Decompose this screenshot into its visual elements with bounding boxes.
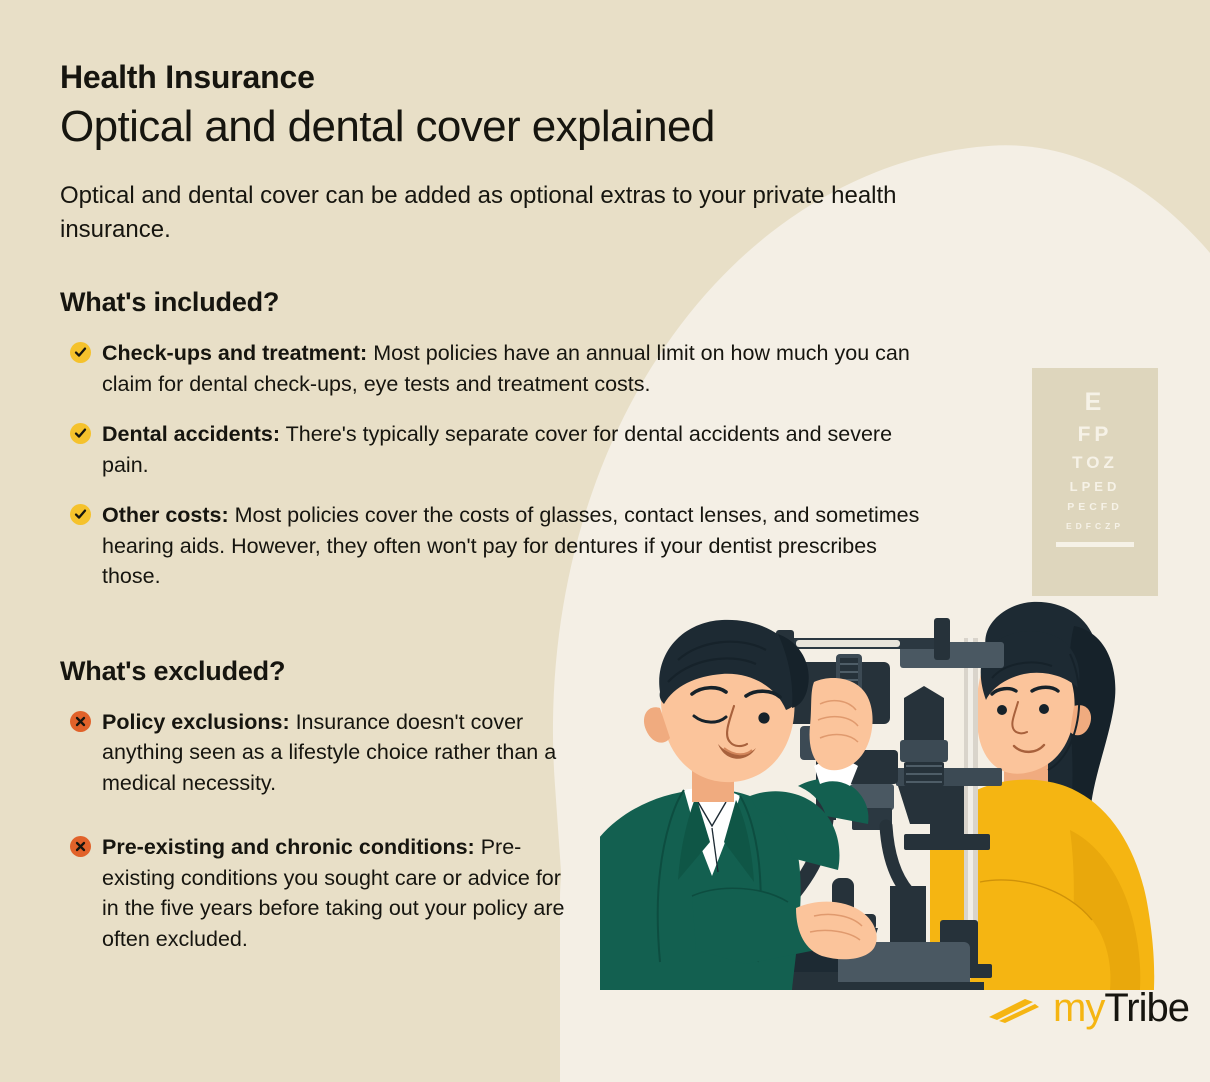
page-title: Optical and dental cover explained — [60, 102, 940, 153]
excluded-list: Policy exclusions: Insurance doesn't cov… — [60, 707, 580, 955]
list-item: Check-ups and treatment: Most policies h… — [60, 338, 920, 399]
list-item-label: Pre-existing and chronic conditions: — [102, 835, 475, 859]
intro-paragraph: Optical and dental cover can be added as… — [60, 179, 940, 247]
list-item-label: Policy exclusions: — [102, 710, 290, 734]
list-item: Dental accidents: There's typically sepa… — [60, 419, 920, 480]
list-item-label: Check-ups and treatment: — [102, 341, 367, 365]
logo-text-tribe: Tribe — [1104, 986, 1189, 1030]
eye-chart-row-4: LPED — [1070, 480, 1121, 493]
mytribe-swoosh-icon — [985, 991, 1041, 1025]
cross-icon — [70, 836, 91, 857]
illustration-optometry-exam — [600, 590, 1210, 990]
infographic-canvas: E FP TOZ LPED PECFD EDFCZP Health Insura… — [0, 0, 1210, 1082]
list-item-label: Dental accidents: — [102, 422, 280, 446]
kicker-label: Health Insurance — [60, 58, 940, 96]
check-icon — [70, 423, 91, 444]
logo-wordmark: myTribe — [1053, 988, 1189, 1028]
list-item: Pre-existing and chronic conditions: Pre… — [60, 832, 580, 954]
eye-chart-row-1: E — [1085, 390, 1106, 415]
eye-chart-underline — [1056, 542, 1134, 547]
mytribe-logo[interactable]: myTribe — [985, 988, 1189, 1028]
section-title-included: What's included? — [60, 287, 940, 318]
eye-chart-panel: E FP TOZ LPED PECFD EDFCZP — [1032, 368, 1158, 596]
check-icon — [70, 342, 91, 363]
check-icon — [70, 504, 91, 525]
eye-chart-row-2: FP — [1078, 424, 1113, 445]
cross-icon — [70, 711, 91, 732]
logo-text-my: my — [1053, 986, 1104, 1030]
list-item: Policy exclusions: Insurance doesn't cov… — [60, 707, 580, 799]
list-item: Other costs: Most policies cover the cos… — [60, 500, 920, 592]
included-list: Check-ups and treatment: Most policies h… — [60, 338, 920, 592]
list-item-label: Other costs: — [102, 503, 229, 527]
eye-chart-row-6: EDFCZP — [1066, 522, 1124, 531]
eye-chart-row-3: TOZ — [1072, 454, 1118, 471]
eye-chart-row-5: PECFD — [1067, 502, 1123, 513]
